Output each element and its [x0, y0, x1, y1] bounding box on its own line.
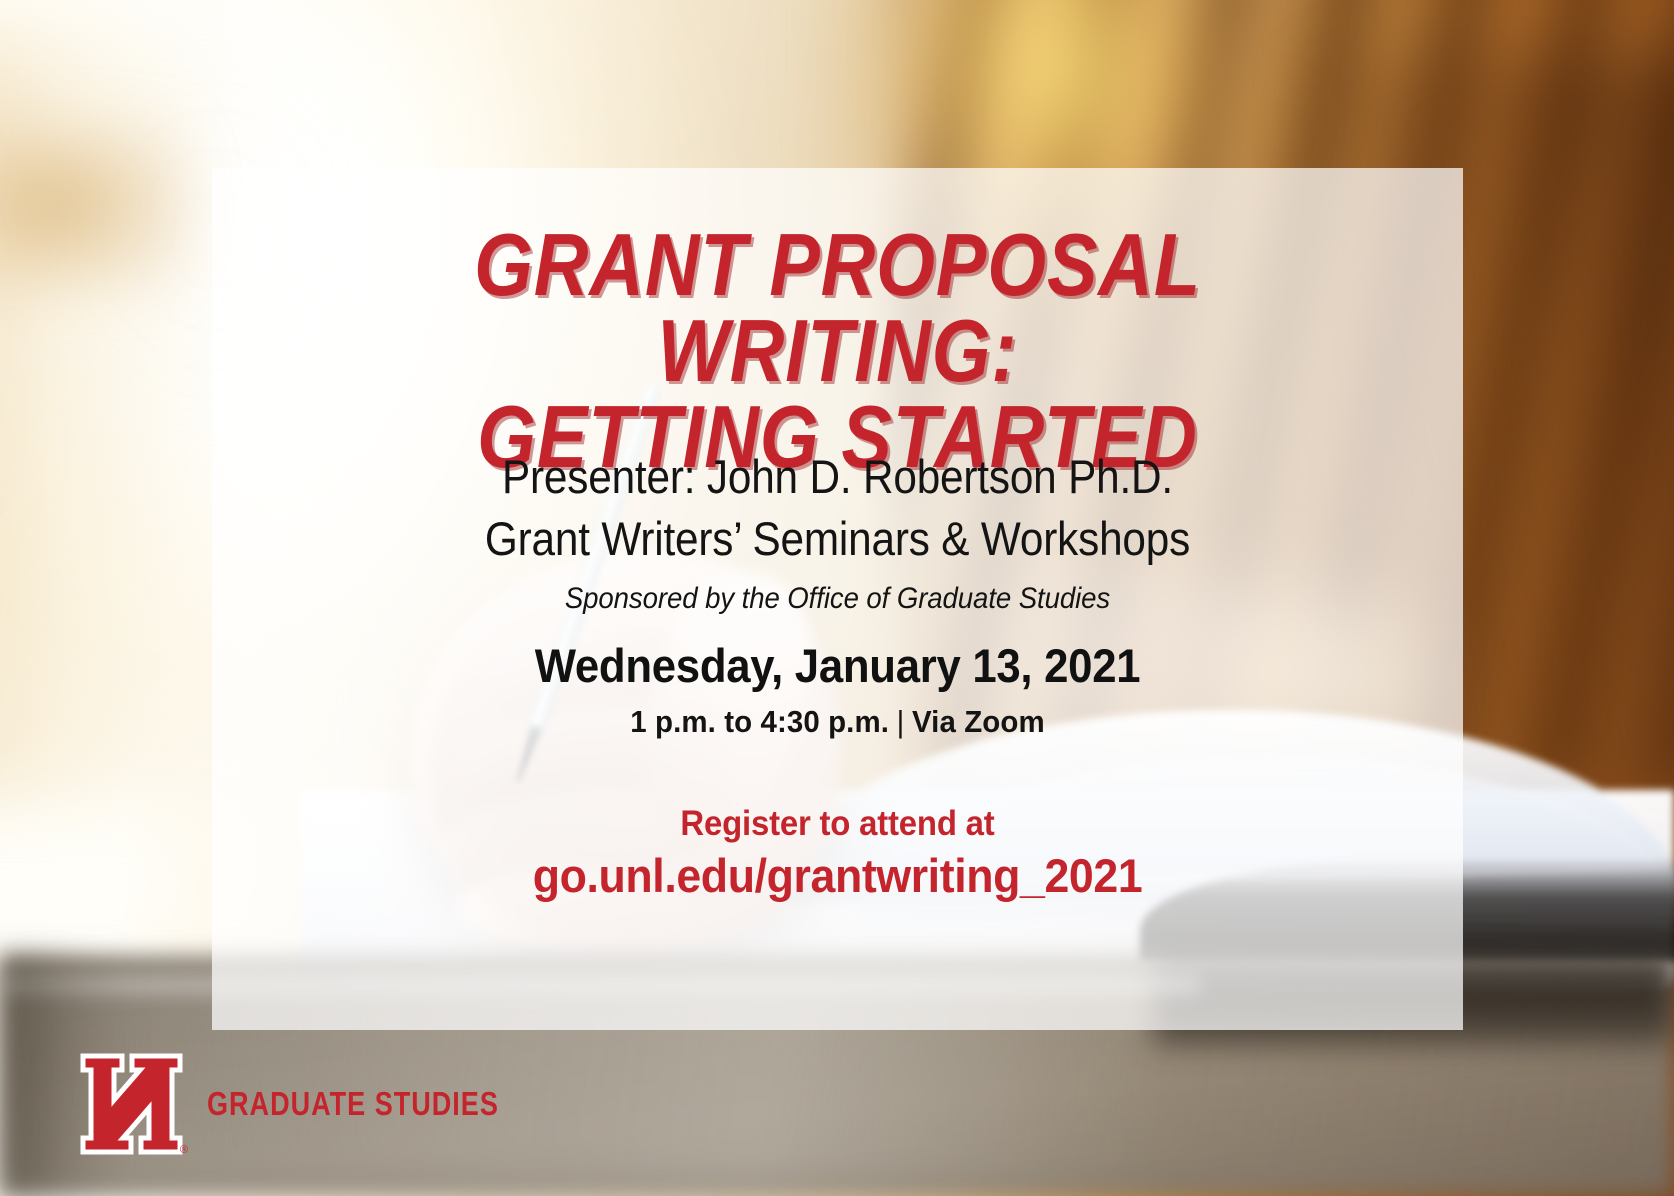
- nebraska-n-icon: ®: [78, 1050, 185, 1158]
- time-location-separator: |: [889, 704, 912, 739]
- presenter-organization: Grant Writers’ Seminars & Workshops: [275, 508, 1401, 570]
- title-line-1: GRANT PROPOSAL WRITING:: [474, 215, 1201, 400]
- event-time-location: 1 p.m. to 4:30 p.m.|Via Zoom: [243, 704, 1431, 740]
- event-flyer: GRANT PROPOSAL WRITING: GETTING STARTED …: [0, 0, 1674, 1196]
- sponsor-line: Sponsored by the Office of Graduate Stud…: [262, 582, 1413, 616]
- event-date: Wednesday, January 13, 2021: [256, 638, 1419, 693]
- flyer-content: GRANT PROPOSAL WRITING: GETTING STARTED …: [212, 168, 1463, 1030]
- register-url[interactable]: go.unl.edu/grantwriting_2021: [243, 848, 1431, 903]
- presenter-block: Presenter: John D. Robertson Ph.D. Grant…: [212, 446, 1463, 616]
- logo-wordmark: GRADUATE STUDIES: [207, 1085, 499, 1123]
- event-time: 1 p.m. to 4:30 p.m.: [630, 704, 889, 739]
- event-location: Via Zoom: [912, 704, 1045, 739]
- registered-trademark-icon: ®: [180, 1144, 188, 1156]
- window-warm-spot: [0, 120, 190, 290]
- presenter-name: Presenter: John D. Robertson Ph.D.: [275, 446, 1401, 508]
- registration-block[interactable]: Register to attend at go.unl.edu/grantwr…: [212, 804, 1463, 903]
- register-label: Register to attend at: [250, 804, 1426, 844]
- logo-lockup: ® GRADUATE STUDIES: [78, 1050, 563, 1158]
- flyer-title: GRANT PROPOSAL WRITING: GETTING STARTED: [300, 222, 1376, 481]
